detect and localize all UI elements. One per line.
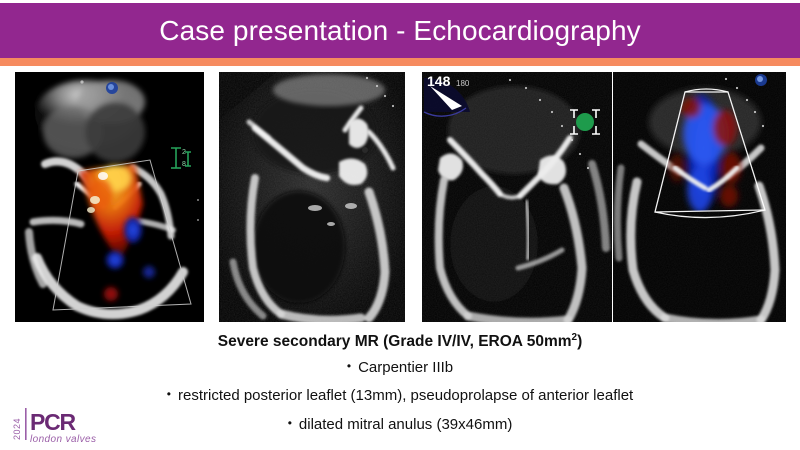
caption-bullet-3: •dilated mitral anulus (39x46mm) <box>0 416 800 433</box>
bullet-icon: • <box>347 359 351 373</box>
page-title: Case presentation - Echocardiography <box>159 17 640 45</box>
caption-bullet-2: •restricted posterior leaflet (13mm), ps… <box>0 387 800 404</box>
logo-year: 2024 <box>12 418 22 440</box>
echocardiography-image-strip: 2 8 <box>0 72 800 324</box>
pcr-london-valves-logo: 2024 PCR london valves <box>8 404 108 446</box>
caption-bullet-1-text: Carpentier IIIb <box>358 359 453 376</box>
bullet-icon: • <box>288 416 292 430</box>
angle-value-label: 148 <box>427 73 451 89</box>
caption-bullet-3-text: dilated mitral anulus (39x46mm) <box>299 416 512 433</box>
svg-text:2: 2 <box>182 149 186 156</box>
echo-image-2d-mitral-valve-grayscale <box>219 72 405 322</box>
echo-image-color-doppler-apical-long-axis: 2 8 <box>15 72 204 322</box>
slide-canvas: Case presentation - Echocardiography <box>0 0 800 450</box>
logo-brand: PCR <box>30 409 77 435</box>
bullet-icon: • <box>167 387 171 401</box>
echo-image-2d-mitral-valve-148-degrees: 148 180 <box>422 72 612 322</box>
caption-bullet-2-text: restricted posterior leaflet (13mm), pse… <box>178 387 633 404</box>
caption-headline-post: ) <box>577 333 582 350</box>
caption-headline: Severe secondary MR (Grade IV/IV, EROA 5… <box>0 332 800 350</box>
echo-image-color-doppler-blue-jet <box>613 72 786 322</box>
caption-block: Severe secondary MR (Grade IV/IV, EROA 5… <box>0 332 800 444</box>
logo-event: london valves <box>30 434 96 445</box>
caption-headline-pre: Severe secondary MR (Grade IV/IV, EROA 5… <box>218 333 572 350</box>
caption-bullet-1: •Carpentier IIIb <box>0 359 800 376</box>
svg-text:8: 8 <box>182 161 186 168</box>
slide-title-band: Case presentation - Echocardiography <box>0 3 800 58</box>
title-accent-bar <box>0 58 800 66</box>
angle-scale-label: 180 <box>456 79 470 88</box>
